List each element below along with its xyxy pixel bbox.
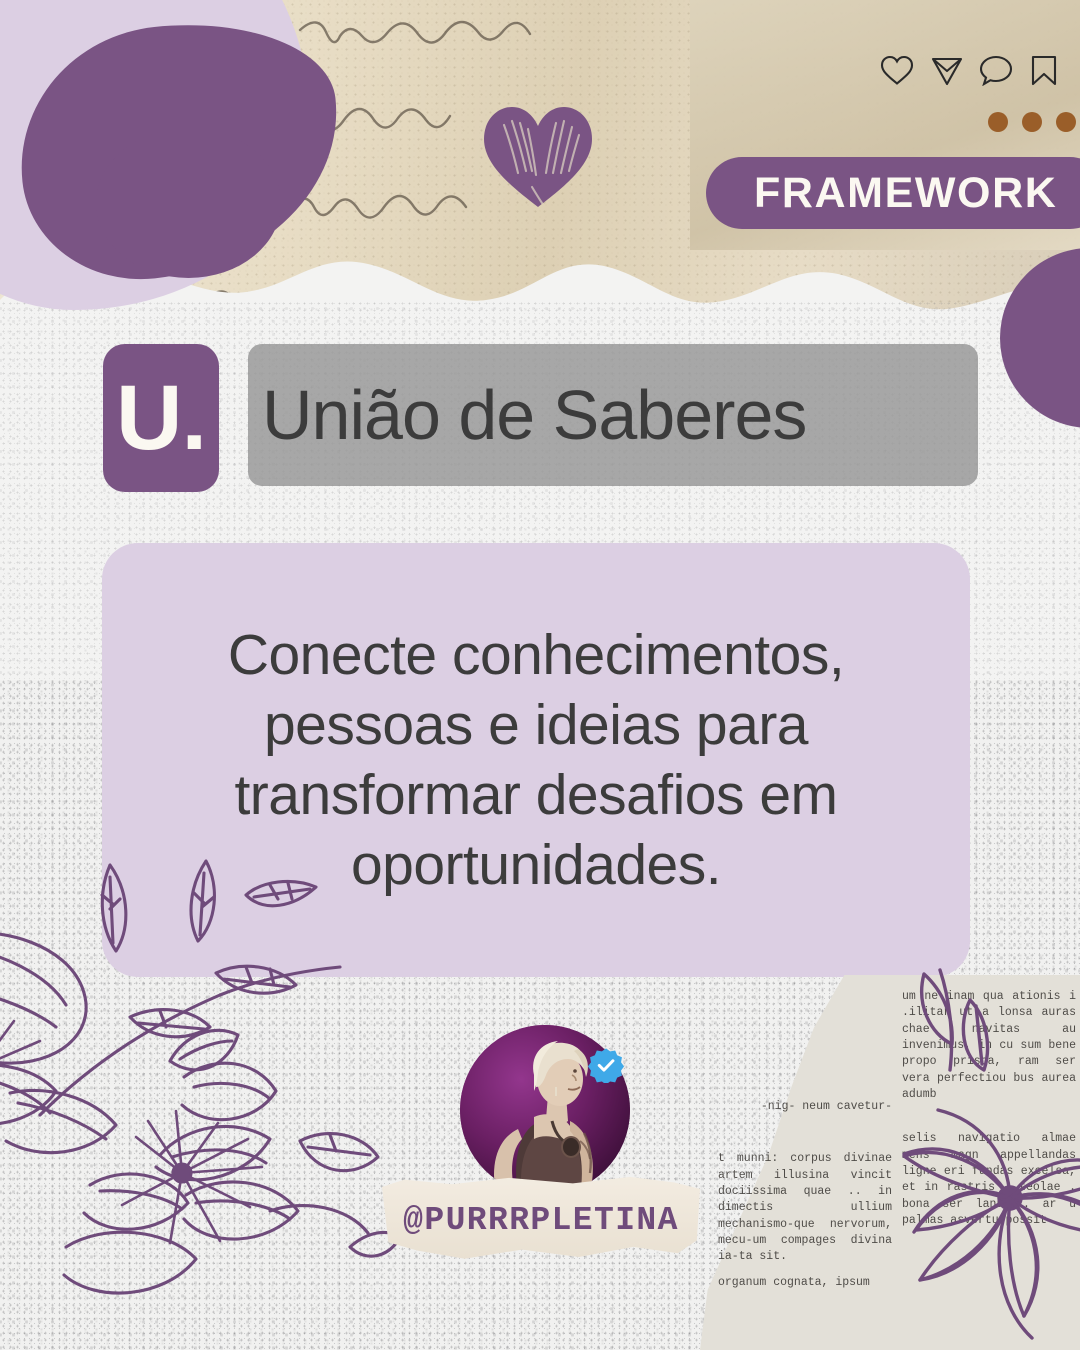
letter-badge-label: U.: [116, 372, 206, 464]
dot: [1022, 112, 1042, 132]
purple-lily-line-art: [0, 855, 400, 1350]
letter-badge: U.: [103, 344, 219, 492]
framework-badge: FRAMEWORK: [706, 157, 1080, 229]
speech-bubble-icon[interactable]: [980, 55, 1013, 86]
dot: [1056, 112, 1076, 132]
avatar[interactable]: [460, 1025, 630, 1195]
dark-purple-blob-lobe: [96, 128, 281, 278]
framework-badge-label: FRAMEWORK: [754, 169, 1057, 218]
handle-strip: @PURRRPLETINA: [382, 1176, 700, 1268]
verified-check-icon: [588, 1047, 624, 1083]
heart-icon[interactable]: [880, 55, 914, 86]
three-dots-icon[interactable]: [988, 112, 1076, 132]
bookmark-icon[interactable]: [1030, 55, 1058, 86]
newsprint-column-left: -nig- neum cavetur- t munni: corpus divi…: [718, 981, 892, 1350]
page-title: União de Saberes: [262, 380, 806, 450]
purple-lily-line-art-right: [880, 960, 1080, 1350]
account-handle[interactable]: @PURRRPLETINA: [382, 1202, 700, 1239]
instagram-post-canvas: FRAMEWORK U. União de Saberes Conecte co…: [0, 0, 1080, 1350]
title-bar: União de Saberes: [248, 344, 978, 486]
hand-drawn-heart-icon: [478, 103, 598, 213]
instagram-action-icons: [880, 55, 1058, 86]
dot: [988, 112, 1008, 132]
paper-plane-icon[interactable]: [931, 55, 963, 86]
